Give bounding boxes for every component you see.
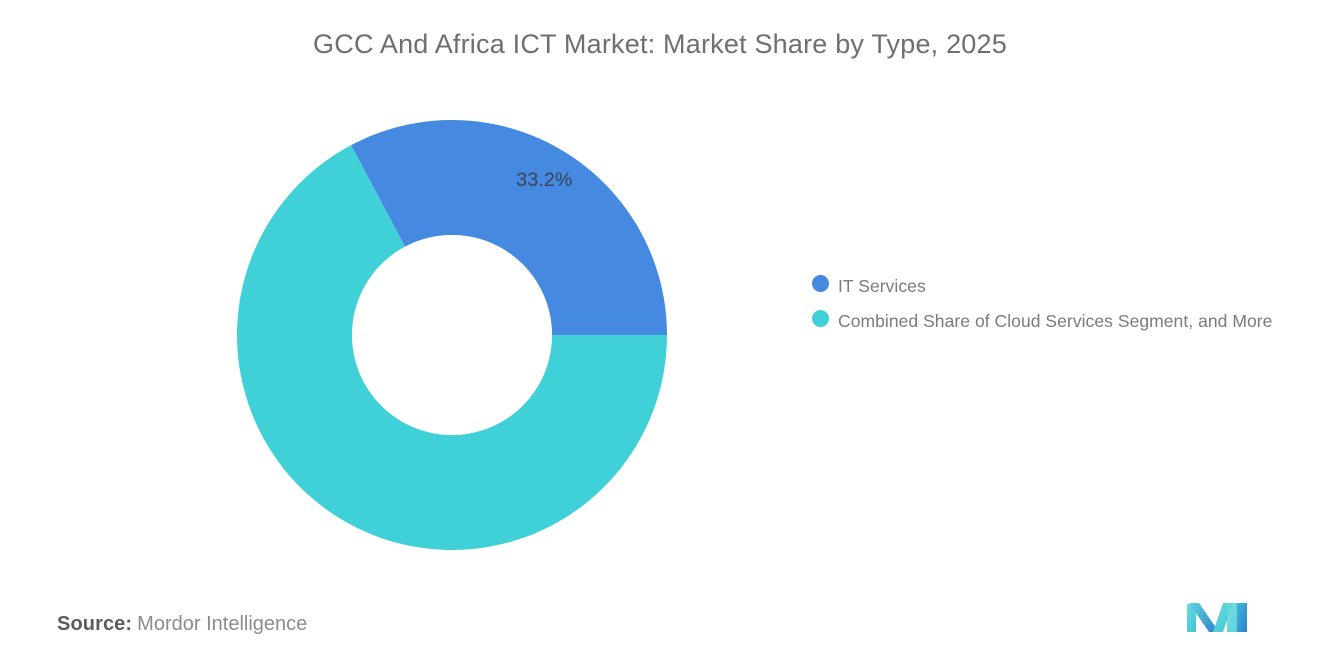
legend-swatch-icon-combined-share xyxy=(812,310,829,327)
source-label: Source: xyxy=(57,613,132,635)
donut-chart xyxy=(237,120,667,550)
mordor-intelligence-logo-icon xyxy=(1183,597,1253,637)
legend-swatch-icon-it-services xyxy=(812,275,829,292)
legend-label-it-services: IT Services xyxy=(838,272,926,300)
donut-chart-svg xyxy=(237,120,667,550)
source-attribution: Source:Mordor Intelligence xyxy=(57,613,307,636)
legend-item-it-services[interactable]: IT Services xyxy=(812,272,1307,300)
chart-page: GCC And Africa ICT Market: Market Share … xyxy=(0,0,1320,665)
chart-legend: IT Services Combined Share of Cloud Serv… xyxy=(812,272,1307,342)
page-title: GCC And Africa ICT Market: Market Share … xyxy=(0,29,1320,60)
donut-center-hole xyxy=(352,235,552,435)
legend-label-combined-share: Combined Share of Cloud Services Segment… xyxy=(838,307,1272,335)
legend-item-combined-share[interactable]: Combined Share of Cloud Services Segment… xyxy=(812,307,1307,335)
source-value: Mordor Intelligence xyxy=(137,613,307,635)
